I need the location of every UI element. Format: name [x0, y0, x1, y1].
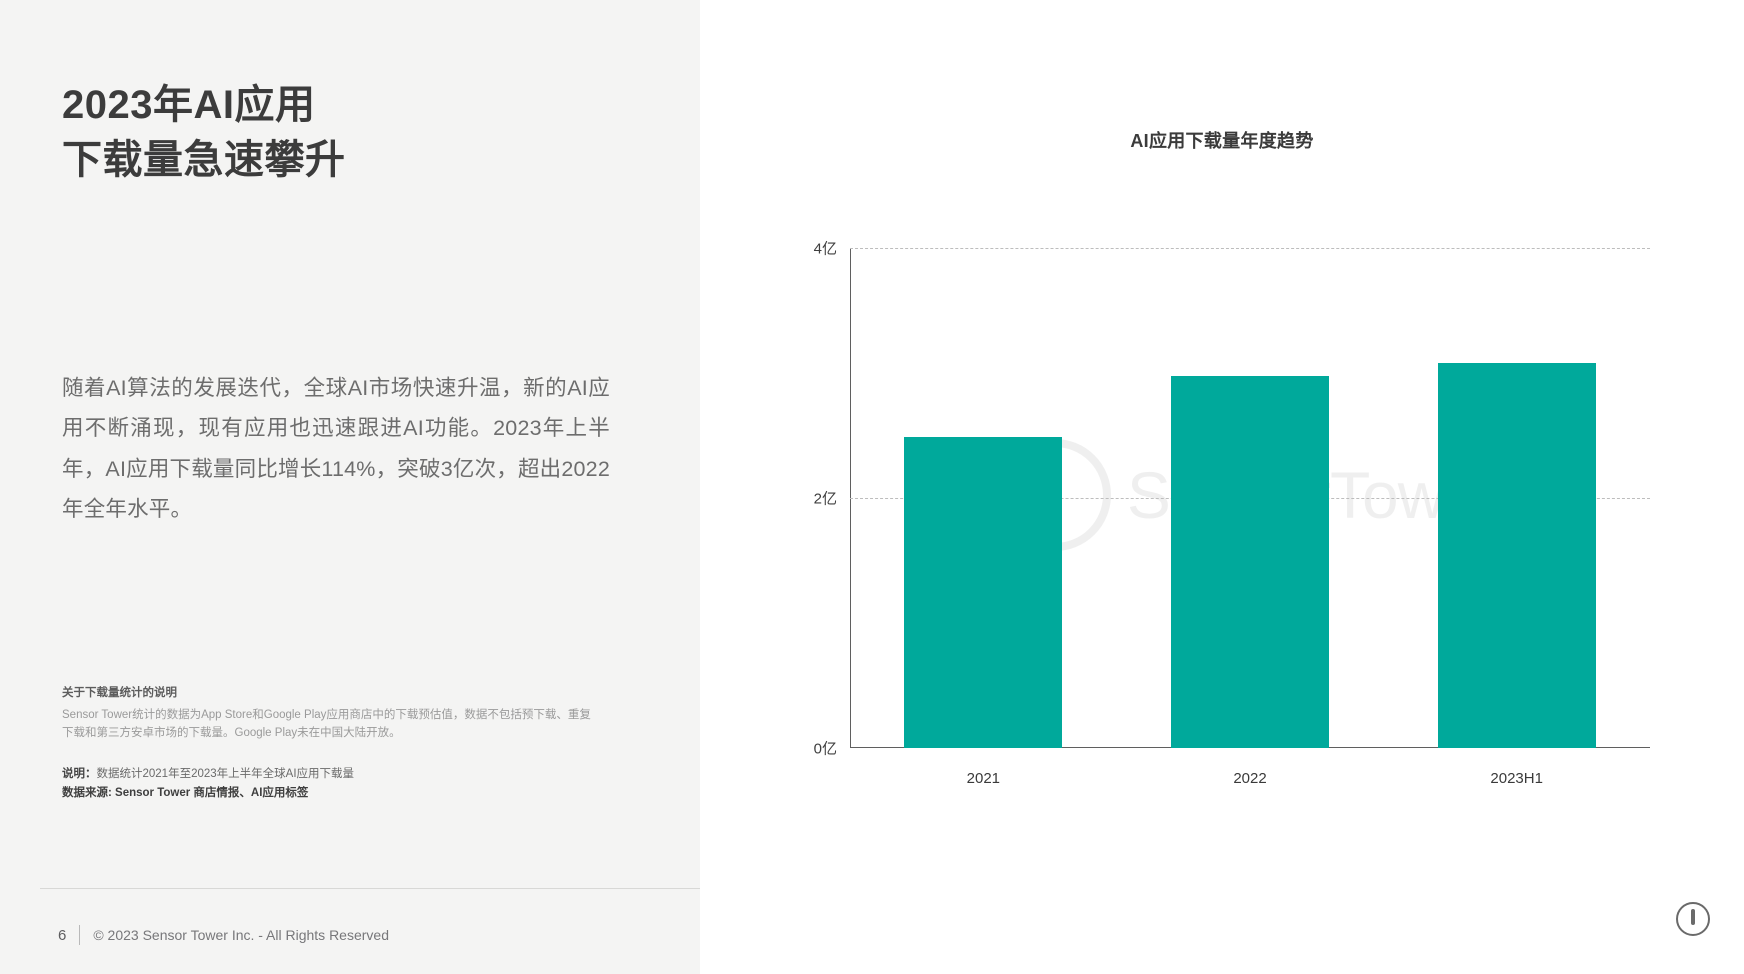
page-title: 2023年AI应用 下载量急速攀升	[62, 78, 622, 188]
footer-divider-rule	[40, 888, 700, 889]
bar-slot: 2022	[1117, 248, 1384, 748]
page-title-line-2: 下载量急速攀升	[62, 133, 622, 188]
y-axis-tick-4: 4亿	[814, 238, 837, 259]
data-source-line: 数据来源: Sensor Tower 商店情报、AI应用标签	[62, 784, 602, 803]
corner-logo-stem	[1691, 909, 1695, 925]
x-axis-tick-2023H1: 2023H1	[1490, 770, 1543, 787]
y-axis-tick-2: 2亿	[814, 488, 837, 509]
bar-slot: 2023H1	[1383, 248, 1650, 748]
bar-2022[interactable]	[1171, 376, 1329, 749]
left-content-panel: 2023年AI应用 下载量急速攀升 随着AI算法的发展迭代，全球AI市场快速升温…	[0, 0, 700, 974]
page-number: 6	[58, 927, 66, 944]
bar-slot: 2021	[850, 248, 1117, 748]
y-axis-tick-0: 0亿	[814, 738, 837, 759]
body-paragraph: 随着AI算法的发展迭代，全球AI市场快速升温，新的AI应用不断涌现，现有应用也迅…	[62, 368, 610, 530]
methodology-note-heading: 关于下载量统计的说明	[62, 684, 602, 704]
chart-panel: AI应用下载量年度趋势 SensorTower 4亿 2亿 0亿 2021202…	[700, 0, 1744, 974]
sensor-tower-corner-logo-icon	[1676, 902, 1710, 936]
source-note-value: 数据统计2021年至2023年上半年全球AI应用下载量	[97, 768, 355, 780]
copyright-text: © 2023 Sensor Tower Inc. - All Rights Re…	[93, 927, 389, 943]
footer: 6 © 2023 Sensor Tower Inc. - All Rights …	[58, 925, 389, 945]
methodology-note: 关于下载量统计的说明 Sensor Tower统计的数据为App Store和G…	[62, 684, 602, 743]
footer-divider-icon	[79, 925, 80, 945]
bar-2021[interactable]	[904, 437, 1062, 748]
source-block: 说明：数据统计2021年至2023年上半年全球AI应用下载量 数据来源: Sen…	[62, 765, 602, 802]
source-note-line: 说明：数据统计2021年至2023年上半年全球AI应用下载量	[62, 765, 602, 784]
x-axis-tick-2022: 2022	[1233, 770, 1266, 787]
methodology-note-body: Sensor Tower统计的数据为App Store和Google Play应…	[62, 706, 602, 743]
slide: 2023年AI应用 下载量急速攀升 随着AI算法的发展迭代，全球AI市场快速升温…	[0, 0, 1744, 974]
page-title-line-1: 2023年AI应用	[62, 78, 622, 133]
bar-2023H1[interactable]	[1438, 363, 1596, 748]
source-note-label: 说明：	[62, 768, 97, 780]
x-axis-tick-2021: 2021	[967, 770, 1000, 787]
bar-series: 202120222023H1	[850, 248, 1650, 748]
chart-title: AI应用下载量年度趋势	[700, 127, 1744, 153]
bar-chart-plot-area: 4亿 2亿 0亿 202120222023H1	[850, 248, 1650, 748]
